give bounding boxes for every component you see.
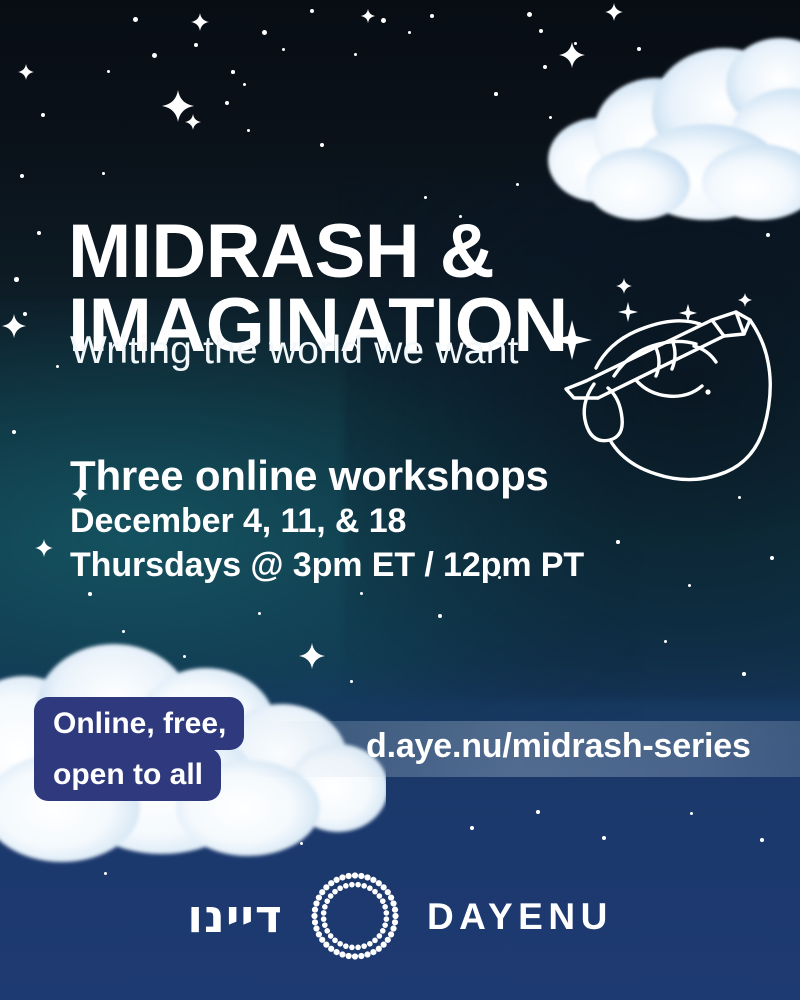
star-dot [41,113,45,117]
star-dot [602,836,606,840]
star-dot [664,640,667,643]
cloud-top-right [528,14,800,226]
star-dot [438,614,442,618]
star-dot [430,14,434,18]
registration-url[interactable]: d.aye.nu/midrash-series [366,727,751,766]
star-sparkle [35,539,53,557]
star-dot [760,838,764,842]
star-dot [225,101,229,105]
details-dates: December 4, 11, & 18 [70,499,584,543]
star-sparkle [185,114,201,130]
star-dot [424,196,427,199]
star-sparkle [361,9,375,23]
star-dot [616,540,620,544]
star-dot [320,143,324,147]
logo-hebrew-text: דיינו [187,893,283,939]
star-dot [310,9,314,13]
star-dot [12,430,16,434]
star-dot [194,43,198,47]
star-dot [107,70,110,73]
star-dot [37,231,41,235]
star-sparkle [2,314,26,338]
star-dot [102,172,105,175]
star-dot [536,810,540,814]
poster-subtitle: Writing the world we want [70,329,519,373]
star-dot [354,53,357,56]
star-dot [690,812,693,815]
star-dot [381,18,386,23]
star-dot [766,233,770,237]
poster-canvas: MIDRASH & IMAGINATION Writing the world … [0,0,800,1000]
badge-line-1: Online, free, [34,697,244,750]
star-dot [282,48,285,51]
star-sparkle [18,64,34,80]
title-line-1: MIDRASH & [68,215,728,289]
star-dot [56,365,59,368]
star-dot [408,31,411,34]
star-sparkle [191,13,209,31]
star-dot [152,53,157,58]
star-dot [133,17,138,22]
star-dot [360,592,363,595]
star-dot [262,30,267,35]
star-dot [470,826,474,830]
star-dot [20,174,24,178]
dayenu-logo: דיינו DAYENU [0,866,800,966]
star-dot [231,70,235,74]
star-dot [688,584,691,587]
star-dot [243,83,246,86]
access-badge: Online, free, open to all [34,697,244,801]
star-dot [516,183,519,186]
star-dot [14,277,19,282]
workshop-details: Three online workshops December 4, 11, &… [70,452,584,587]
details-times: Thursdays @ 3pm ET / 12pm PT [70,543,584,587]
star-dot [88,592,92,596]
details-heading: Three online workshops [70,452,584,499]
star-dot [494,92,498,96]
dayenu-dotted-ring-icon [307,868,403,964]
logo-wordmark: DAYENU [427,898,613,935]
star-dot [742,672,746,676]
badge-line-2: open to all [34,748,221,801]
star-dot [247,129,250,132]
star-dot [770,556,774,560]
